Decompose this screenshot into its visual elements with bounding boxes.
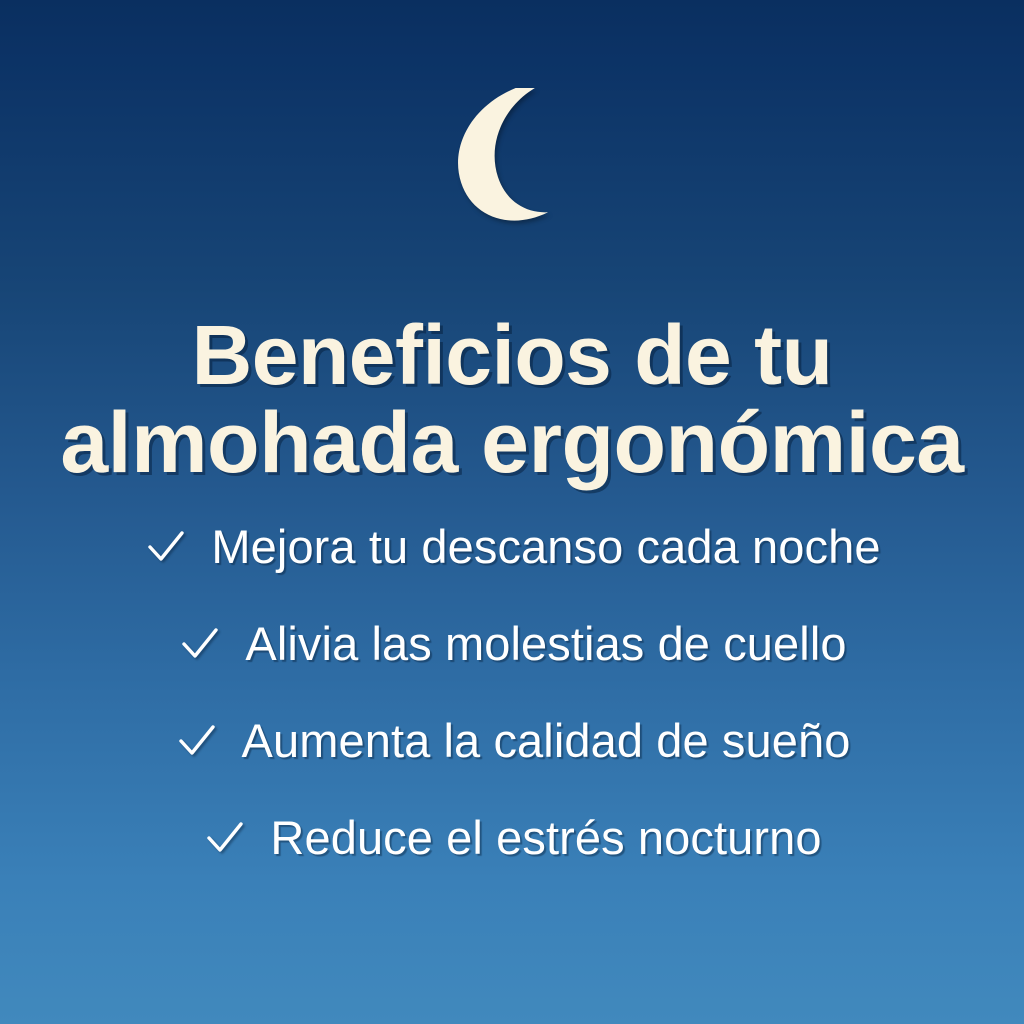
benefits-list: Mejora tu descanso cada noche Alivia las… — [0, 498, 1024, 886]
benefit-label: Alivia las molestias de cuello — [245, 620, 846, 667]
benefit-label: Mejora tu descanso cada noche — [211, 523, 880, 570]
page-title: Beneficios de tu almohada ergonómica — [0, 314, 1024, 485]
crescent-moon-icon — [450, 88, 574, 222]
check-icon — [143, 524, 189, 570]
headline-line-2: almohada ergonómica — [24, 401, 1000, 485]
moon-illustration — [0, 88, 1024, 222]
check-icon — [174, 718, 220, 764]
benefit-label: Aumenta la calidad de sueño — [242, 717, 851, 764]
list-item: Mejora tu descanso cada noche — [143, 498, 880, 595]
list-item: Reduce el estrés nocturno — [202, 789, 821, 886]
promo-poster: Beneficios de tu almohada ergonómica Mej… — [0, 0, 1024, 1024]
headline-line-1: Beneficios de tu — [24, 314, 1000, 396]
benefit-label: Reduce el estrés nocturno — [270, 814, 821, 861]
check-icon — [177, 621, 223, 667]
check-icon — [202, 815, 248, 861]
list-item: Aumenta la calidad de sueño — [174, 692, 851, 789]
list-item: Alivia las molestias de cuello — [177, 595, 846, 692]
